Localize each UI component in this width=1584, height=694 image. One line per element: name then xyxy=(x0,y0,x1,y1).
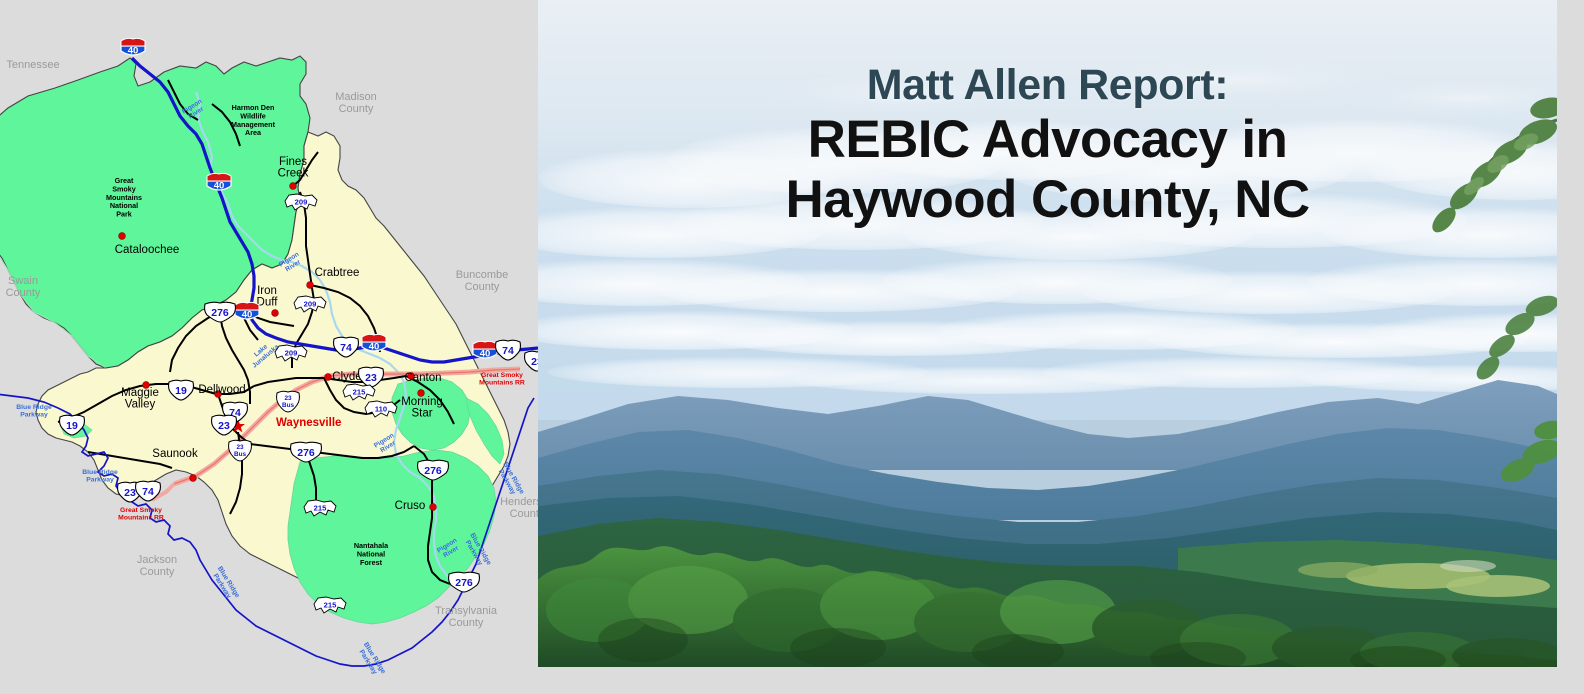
route-shield-19[interactable]: 19 xyxy=(60,415,85,435)
route-shield-74[interactable]: 74 xyxy=(334,337,359,357)
svg-text:Bus: Bus xyxy=(234,451,247,458)
place-marker xyxy=(190,475,197,482)
blue-ridge-parkway-label: Blue RidgeParkway xyxy=(212,565,241,600)
svg-text:Saunook: Saunook xyxy=(152,448,198,460)
svg-text:40: 40 xyxy=(480,349,491,360)
route-shield-23[interactable]: 23 xyxy=(525,351,538,371)
svg-text:Cruso: Cruso xyxy=(395,500,426,512)
place-label: Saunook xyxy=(152,448,198,460)
railroad-label: Great SmokyMountains RR xyxy=(118,507,164,522)
svg-text:215: 215 xyxy=(353,388,366,397)
svg-text:23: 23 xyxy=(218,420,230,432)
place-label: Cruso xyxy=(395,500,426,512)
svg-text:23: 23 xyxy=(531,356,538,368)
svg-text:Creek: Creek xyxy=(278,168,309,180)
route-shield-40[interactable]: 40 xyxy=(121,38,145,56)
route-shield-40[interactable]: 40 xyxy=(362,334,386,352)
svg-text:Great Smoky: Great Smoky xyxy=(120,507,162,514)
svg-text:209: 209 xyxy=(295,198,308,207)
svg-text:40: 40 xyxy=(242,310,253,321)
svg-text:Crabtree: Crabtree xyxy=(315,267,360,279)
route-shield-110[interactable]: 110 xyxy=(365,401,397,417)
neighbor-county-label: BuncombeCounty xyxy=(456,269,509,293)
blue-ridge-parkway-label: Blue RidgeParkway xyxy=(358,641,387,676)
route-shield-209[interactable]: 209 xyxy=(275,345,307,361)
svg-text:Maggie: Maggie xyxy=(121,387,159,399)
route-shield-215[interactable]: 215 xyxy=(343,384,375,400)
neighbor-county-label: SwainCounty xyxy=(6,275,41,299)
svg-text:276: 276 xyxy=(455,577,473,589)
haywood-county-map: Haywood County xyxy=(0,0,538,694)
svg-text:209: 209 xyxy=(285,349,298,358)
svg-text:23: 23 xyxy=(365,372,377,384)
svg-text:Canton: Canton xyxy=(404,372,441,384)
svg-text:Henderson: Henderson xyxy=(500,496,538,508)
svg-text:Parkway: Parkway xyxy=(20,412,48,419)
svg-text:County: County xyxy=(339,103,374,115)
svg-text:19: 19 xyxy=(66,420,78,432)
haywood-county-photo xyxy=(538,0,1557,667)
svg-text:County: County xyxy=(449,617,484,629)
svg-text:Valley: Valley xyxy=(125,399,156,411)
svg-text:County: County xyxy=(510,508,538,520)
svg-text:Buncombe: Buncombe xyxy=(456,269,509,281)
svg-text:276: 276 xyxy=(211,307,229,319)
svg-text:County: County xyxy=(6,287,41,299)
svg-text:23: 23 xyxy=(284,395,292,402)
place-marker xyxy=(430,504,437,511)
railroad-label: Great SmokyMountains RR xyxy=(479,372,525,387)
svg-text:74: 74 xyxy=(142,486,154,498)
svg-text:Blue Ridge: Blue Ridge xyxy=(16,404,52,411)
svg-text:23: 23 xyxy=(236,444,244,451)
place-label: Dellwood xyxy=(198,384,245,396)
place-marker xyxy=(119,233,126,240)
route-shield-209[interactable]: 209 xyxy=(285,194,317,210)
river-label: PigeonRiver xyxy=(181,98,205,120)
svg-text:Transylvania: Transylvania xyxy=(435,605,498,617)
svg-text:Duff: Duff xyxy=(257,297,279,309)
svg-text:County: County xyxy=(140,566,175,578)
svg-text:Dellwood: Dellwood xyxy=(198,384,245,396)
route-shield-215[interactable]: 215 xyxy=(304,500,336,516)
neighbor-county-label: HendersonCounty xyxy=(500,496,538,520)
blue-ridge-parkway-label: Blue RidgeParkway xyxy=(16,404,52,419)
federal-land-label: NantahalaNationalForest xyxy=(354,541,389,567)
place-marker xyxy=(272,310,279,317)
river-label: PigeonRiver xyxy=(373,432,397,454)
neighbor-county-label: MadisonCounty xyxy=(335,91,377,115)
svg-text:74: 74 xyxy=(502,345,514,357)
svg-text:Clyde: Clyde xyxy=(332,371,361,383)
svg-text:Morning: Morning xyxy=(401,396,443,408)
place-label: FinesCreek xyxy=(278,156,309,180)
place-label: Clyde xyxy=(332,371,361,383)
svg-text:Jackson: Jackson xyxy=(137,554,177,566)
route-shield-276[interactable]: 276 xyxy=(449,572,480,592)
map-label-layer: TennesseeMadisonCountyBuncombeCountySwai… xyxy=(0,0,538,694)
route-shield-74[interactable]: 74 xyxy=(496,340,521,360)
place-label: Cataloochee xyxy=(115,244,180,256)
place-marker xyxy=(325,374,332,381)
svg-text:23: 23 xyxy=(124,487,136,499)
route-shield-23[interactable]: 23Bus xyxy=(277,391,300,412)
route-shield-215[interactable]: 215 xyxy=(314,597,346,613)
place-label: Canton xyxy=(404,372,441,384)
county-seat-label: Waynesville xyxy=(276,417,341,429)
svg-text:Park: Park xyxy=(116,210,132,219)
svg-text:Iron: Iron xyxy=(257,285,277,297)
neighbor-county-label: TransylvaniaCounty xyxy=(435,605,498,629)
page-root: Haywood County xyxy=(0,0,1584,694)
route-shield-40[interactable]: 40 xyxy=(473,341,497,359)
svg-text:Parkway: Parkway xyxy=(86,477,114,484)
route-shield-23[interactable]: 23Bus xyxy=(229,440,252,461)
blue-ridge-parkway-label: Blue RidgeParkway xyxy=(464,532,493,567)
svg-text:Swain: Swain xyxy=(8,275,38,287)
svg-text:215: 215 xyxy=(324,601,337,610)
river-label: PigeonRiver xyxy=(278,251,302,273)
federal-land-label: GreatSmokyMountainsNationalPark xyxy=(106,176,142,219)
route-shield-40[interactable]: 40 xyxy=(207,173,231,191)
route-shield-276[interactable]: 276 xyxy=(291,442,322,462)
svg-text:County: County xyxy=(465,281,500,293)
place-label: Crabtree xyxy=(315,267,360,279)
svg-text:Star: Star xyxy=(411,408,432,420)
svg-text:74: 74 xyxy=(340,342,352,354)
place-label: MaggieValley xyxy=(121,387,159,411)
place-marker xyxy=(307,282,314,289)
place-label: MorningStar xyxy=(401,396,443,420)
svg-text:Forest: Forest xyxy=(360,558,383,567)
svg-text:40: 40 xyxy=(369,342,380,353)
place-marker xyxy=(290,183,297,190)
route-shield-276[interactable]: 276 xyxy=(205,302,236,322)
svg-text:Mountains RR: Mountains RR xyxy=(479,380,525,387)
federal-land-label: Harmon DenWildlifeManagementArea xyxy=(231,103,276,137)
blue-ridge-parkway-label: Blue RidgeParkway xyxy=(497,461,526,496)
route-shield-209[interactable]: 209 xyxy=(294,296,326,312)
neighbor-county-label: Tennessee xyxy=(6,59,59,71)
neighbor-county-label: JacksonCounty xyxy=(137,554,177,578)
svg-text:Cataloochee: Cataloochee xyxy=(115,244,180,256)
svg-text:Blue Ridge: Blue Ridge xyxy=(82,469,118,476)
mountain-landscape-photo xyxy=(538,0,1557,667)
route-shield-276[interactable]: 276 xyxy=(418,460,449,480)
svg-text:215: 215 xyxy=(314,504,327,513)
svg-text:Fines: Fines xyxy=(279,156,307,168)
svg-text:40: 40 xyxy=(128,46,139,57)
route-shield-23[interactable]: 23 xyxy=(359,367,384,387)
route-shield-19[interactable]: 19 xyxy=(169,380,194,400)
svg-text:Bus: Bus xyxy=(282,402,295,409)
route-shield-40[interactable]: 40 xyxy=(235,302,259,320)
svg-text:209: 209 xyxy=(304,300,317,309)
route-shield-74[interactable]: 74 xyxy=(136,481,161,501)
svg-text:40: 40 xyxy=(214,181,225,192)
place-label: IronDuff xyxy=(257,285,279,309)
svg-text:Madison: Madison xyxy=(335,91,377,103)
svg-text:19: 19 xyxy=(175,385,187,397)
svg-text:110: 110 xyxy=(375,405,387,414)
svg-text:Tennessee: Tennessee xyxy=(6,59,59,71)
svg-text:276: 276 xyxy=(297,447,315,459)
river-label: PigeonRiver xyxy=(436,537,460,559)
blue-ridge-parkway-label: Blue RidgeParkway xyxy=(82,469,118,484)
route-shield-23[interactable]: 23 xyxy=(212,415,237,435)
svg-text:Area: Area xyxy=(245,128,262,137)
svg-text:Mountains RR: Mountains RR xyxy=(118,515,164,522)
svg-text:Great Smoky: Great Smoky xyxy=(481,372,523,379)
svg-text:276: 276 xyxy=(424,465,442,477)
